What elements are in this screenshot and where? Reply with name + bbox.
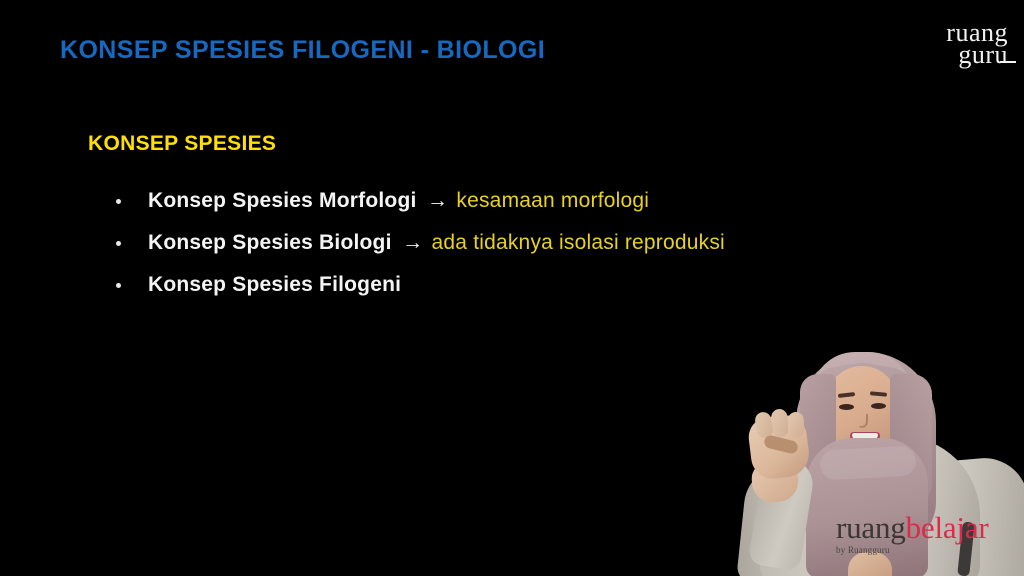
bullet-sub-text: kesamaan morfologi [456,189,649,212]
presenter-finger-2 [771,408,790,438]
presenter-finger-3 [788,412,805,439]
bullet-main-text: Konsep Spesies Filogeni [148,273,401,296]
presenter-nose [859,414,868,428]
presenter-eyebrow-left [838,392,855,398]
slide-canvas: KONSEP SPESIES FILOGENI - BIOLOGI ruang … [0,0,1024,576]
ruangbelajar-part-belajar: belajar [906,510,989,545]
bullet-dot-icon [116,241,121,246]
presenter-hand-resting [848,552,892,576]
bullet-list: Konsep Spesies Morfologi → kesamaan morf… [112,180,725,306]
bullet-main-text: Konsep Spesies Biologi [148,231,392,254]
presenter-eye-right [871,403,886,409]
arrow-right-icon: → [396,231,427,254]
presenter-eye-left [839,404,854,410]
section-heading: KONSEP SPESIES [88,132,276,156]
list-item: Konsep Spesies Biologi → ada tidaknya is… [112,222,725,264]
ruangbelajar-wordmark: ruangbelajar [836,512,989,543]
bullet-sub-text: ada tidaknya isolasi reproduksi [432,231,725,254]
presenter-hijab-fold [819,446,916,481]
bullet-dot-icon [116,283,121,288]
bullet-main-text: Konsep Spesies Morfologi [148,189,417,212]
arrow-right-icon [401,273,411,296]
list-item: Konsep Spesies Filogeni [112,264,725,306]
arrow-right-icon: → [421,189,452,212]
presenter-eyebrow-right [870,391,887,396]
list-item: Konsep Spesies Morfologi → kesamaan morf… [112,180,725,222]
bullet-dot-icon [116,199,121,204]
ruangbelajar-watermark: ruangbelajar by Ruangguru [836,512,989,555]
ruangbelajar-part-ruang: ruang [836,510,906,545]
ruangbelajar-byline: by Ruangguru [836,546,989,555]
